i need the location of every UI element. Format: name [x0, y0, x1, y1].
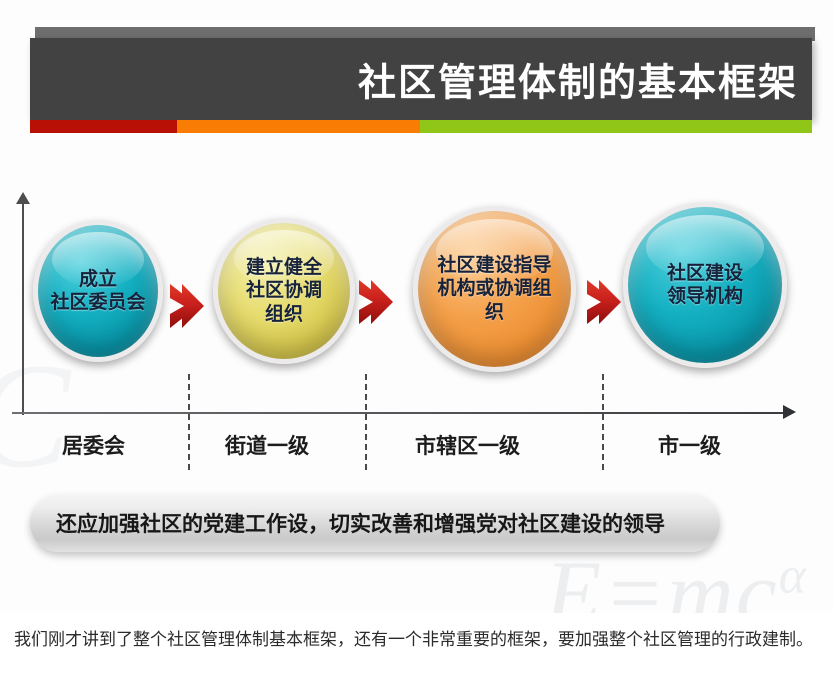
- tier-label-residents-committee: 居委会: [62, 430, 125, 460]
- tier-divider-3: [602, 374, 604, 470]
- summary-banner: 还应加强社区的党建工作设，切实改善和增强党对社区建设的领导: [30, 494, 720, 552]
- watermark-formula-exponent: α: [779, 547, 808, 604]
- title-bar: 社区管理体制的基本框架: [30, 38, 812, 120]
- node-label: 社区建设 领导机构: [667, 262, 743, 308]
- chevron-right-icon: [357, 278, 395, 326]
- vertical-axis-line: [22, 200, 24, 415]
- transcript-caption: 我们刚才讲到了整个社区管理体制基本框架，还有一个非常重要的框架，要加强整个社区管…: [0, 613, 833, 695]
- accent-segment-orange: [177, 120, 420, 133]
- slide-canvas: C E=mcα 社区管理体制的基本框架 成立 社区委员会 建立健全 社区协调 组…: [0, 0, 833, 613]
- process-node-establish-community-committee[interactable]: 成立 社区委员会: [33, 220, 163, 362]
- tier-divider-1: [188, 374, 190, 470]
- process-node-construction-leadership-org[interactable]: 社区建设 领导机构: [623, 202, 787, 368]
- horizontal-axis-arrowhead-icon: [783, 405, 796, 419]
- chevron-right-icon: [168, 282, 206, 330]
- node-label: 成立 社区委员会: [50, 268, 145, 314]
- watermark-formula-text: E=mc: [545, 542, 779, 613]
- tier-label-street-level: 街道一级: [225, 430, 309, 460]
- horizontal-axis-line: [12, 412, 787, 414]
- chevron-right-icon: [585, 278, 623, 326]
- page-title: 社区管理体制的基本框架: [358, 52, 798, 107]
- title-accent-color-strip: [30, 120, 812, 133]
- process-node-construction-guidance-org[interactable]: 社区建设指导 机构或协调组 织: [413, 206, 576, 372]
- tier-label-city-level: 市一级: [658, 430, 721, 460]
- watermark-decoration-left: C: [0, 330, 70, 502]
- accent-segment-green: [420, 120, 812, 133]
- summary-banner-text: 还应加强社区的党建工作设，切实改善和增强党对社区建设的领导: [30, 508, 665, 538]
- node-label: 社区建设指导 机构或协调组 织: [437, 254, 551, 324]
- node-label: 建立健全 社区协调 组织: [246, 256, 322, 326]
- tier-divider-2: [365, 374, 367, 470]
- accent-segment-red: [30, 120, 177, 133]
- tier-label-district-level: 市辖区一级: [415, 430, 520, 460]
- process-node-build-coordination-org[interactable]: 建立健全 社区协调 组织: [213, 218, 355, 364]
